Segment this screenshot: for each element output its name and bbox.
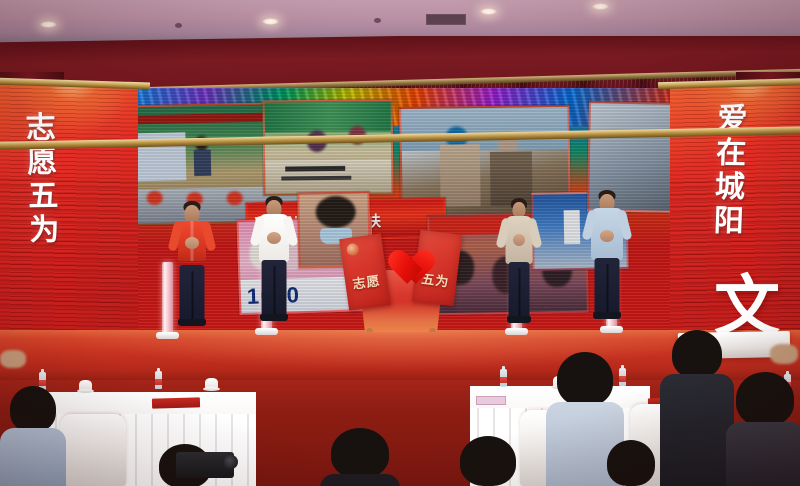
head [607,440,655,486]
stage-person-beige-jacket [500,200,538,334]
audience-member [660,330,734,486]
right-banner-text: 爱在城阳 [708,102,746,238]
audience-member [320,428,400,486]
shoes [593,312,621,319]
head [331,428,389,478]
device-logo-icon [346,243,360,257]
head [460,436,516,486]
clapping-hands [513,234,525,246]
camera-lens-icon [224,455,238,469]
head [736,372,794,426]
wen-character-sculpture: 文 [714,278,780,336]
launch-ceremony-device[interactable]: 志愿 五为 [336,228,464,332]
left-banner-text: 志愿五为 [20,111,58,247]
audience-member [0,386,66,486]
name-card [476,396,506,405]
stage-person-volunteer [172,203,212,333]
water-bottle [500,369,507,387]
ceiling-light-icon [40,21,57,28]
ceiling-light-icon [262,18,279,25]
shoes [260,314,288,321]
heart-icon [382,234,422,272]
stage-photograph: 困境儿童结对帮扶 1000 [0,0,800,486]
ceiling-fixture-icon [175,23,182,28]
legs [595,258,620,314]
legs [262,260,287,316]
torso [320,474,400,486]
shoes [507,316,531,323]
ceiling-light-icon [480,8,497,15]
audience-member [452,436,524,486]
left-banner-panel: 志愿五为 [0,84,138,339]
head [557,352,613,406]
audience-member [600,440,662,486]
bottle-label [500,377,507,383]
raised-hand [770,344,798,364]
ceiling-fixture-icon [374,18,381,23]
ceiling-vent-icon [426,14,466,25]
torso [726,422,800,486]
stage-person-white-shirt [254,198,294,334]
shoes [178,319,206,326]
teacup [205,378,218,389]
chair-cover [60,414,126,486]
legs [180,265,205,321]
red-folder[interactable] [152,397,200,408]
teacup [79,380,92,391]
torso [0,428,66,486]
video-camera [176,452,234,478]
device-panel-left-text: 志愿 [344,269,388,294]
podium-base [156,332,179,339]
raised-hand [0,350,26,368]
head [10,386,56,432]
clapping-hands [267,232,281,244]
stage-person-blue-shirt [586,192,628,332]
water-bottle [155,371,162,389]
head [672,330,722,378]
audience-member [726,372,800,486]
legs [509,262,530,318]
torso [660,374,734,486]
clapping-hands [600,230,614,242]
clapping-hands [185,237,199,249]
bottle-label [155,379,162,385]
ceiling-light-icon [592,3,609,10]
